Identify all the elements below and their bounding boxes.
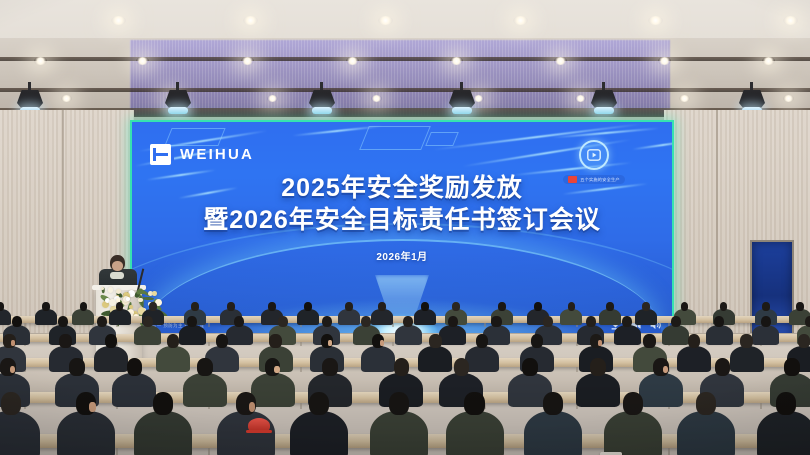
audience-member-head [105, 334, 117, 348]
desk-support [668, 448, 670, 455]
audience-member-face [10, 366, 15, 373]
weihua-logo: WEIHUA [150, 144, 254, 165]
audience-member-head [464, 392, 484, 415]
video-play-icon [579, 140, 609, 170]
audience-member-head [448, 316, 458, 327]
audience-member [446, 392, 504, 455]
ceiling-downlight [762, 57, 775, 65]
audience-member-body [134, 411, 192, 455]
seated-audience [0, 300, 810, 455]
audience-member-head [543, 316, 553, 327]
ceiling-downlight [241, 57, 254, 65]
audience-member-head [322, 316, 332, 327]
title-line-1: 2025年安全奖励发放 [132, 172, 672, 204]
audience-member-head [590, 358, 606, 376]
ceiling-downlight [61, 95, 72, 102]
audience-member-body [524, 411, 582, 455]
audience-member-head [80, 302, 88, 311]
audience-member-head [671, 316, 681, 327]
audience-member-head [429, 334, 441, 348]
audience-member-head [197, 358, 213, 376]
audience-member-body [370, 411, 428, 455]
audience-member-face [89, 402, 96, 411]
audience-member-head [127, 358, 143, 376]
flower-bloom [101, 287, 104, 290]
audience-member-head [1, 392, 21, 415]
audience-member-head [389, 392, 409, 415]
audience-member-head [606, 302, 614, 311]
ceiling-downlight [136, 57, 149, 65]
audience-member-head [0, 302, 4, 311]
audience-member [604, 392, 662, 455]
stage-spotlight [591, 82, 617, 116]
audience-member-head [59, 334, 71, 348]
audience-member-head [116, 302, 124, 311]
audience-member-head [216, 334, 228, 348]
presenter-collar [110, 272, 124, 279]
hard-hat-brim [246, 430, 272, 433]
audience-member-head [740, 334, 752, 348]
flower-bloom [108, 287, 113, 292]
audience-member-head [452, 302, 460, 311]
title-line-2: 暨2026年安全目标责任书签订会议 [132, 204, 672, 236]
ceiling-light-reflection [130, 40, 670, 116]
audience-member-head [796, 302, 804, 311]
ceiling-downlight [450, 57, 463, 65]
ceiling-downlight [513, 16, 528, 25]
ceiling-downlight [378, 16, 393, 25]
audience-member-head [394, 358, 410, 376]
audience-member-body [290, 411, 348, 455]
audience-member-head [696, 392, 716, 415]
desk-support [208, 448, 210, 455]
audience-member [757, 392, 810, 455]
audience-member-head [798, 334, 810, 348]
ceiling-downlight [267, 95, 278, 102]
audience-member-head [761, 316, 771, 327]
audience-member-head [309, 392, 329, 415]
audience-member-body [57, 411, 115, 455]
audience-member-head [42, 302, 50, 311]
audience-member-head [491, 316, 501, 327]
audience-member-head [642, 302, 650, 311]
audience-member-head [378, 302, 386, 311]
audience-member [134, 392, 192, 455]
audience-member-head [643, 334, 655, 348]
desk-support [300, 342, 302, 346]
ceiling-rail-lower [0, 88, 810, 92]
audience-member-head [534, 302, 542, 311]
ceiling-downlight [648, 16, 663, 25]
audience-member-head [776, 392, 796, 415]
audience-member-head [568, 302, 576, 311]
audience-member-head [97, 316, 107, 327]
audience-member-head [762, 302, 770, 311]
conference-hall-photo: WEIHUA 五个实施的安全生产 2025年安全奖励发放 暨2026年 [0, 0, 810, 455]
audience-member [370, 392, 428, 455]
audience-member-head [191, 302, 199, 311]
audience-member-face [598, 340, 602, 346]
audience-member-head [720, 302, 728, 311]
desk-support [208, 323, 210, 327]
audience-member-head [278, 316, 288, 327]
ceiling-downlight [554, 57, 567, 65]
desk-support [300, 367, 302, 372]
stage-spotlight [165, 82, 191, 116]
title-date: 2026年1月 [132, 248, 672, 263]
ceiling-downlight [346, 57, 359, 65]
audience-member-body [757, 411, 810, 455]
weihua-crane-mark-icon [150, 144, 171, 165]
audience-member-head [623, 392, 643, 415]
presenter-face [112, 261, 123, 271]
ceiling-rail-upper [0, 57, 810, 61]
audience-member-head [531, 334, 543, 348]
desk-support [116, 448, 118, 455]
audience-member-head [714, 316, 724, 327]
audience-member-head [322, 358, 338, 376]
ceiling-downlight [34, 57, 47, 65]
screen-titles: 2025年安全奖励发放 暨2026年安全目标责任书签订会议 2026年1月 [132, 172, 672, 263]
audience-member-head [69, 358, 85, 376]
audience-member [57, 392, 115, 455]
audience-member-head [622, 316, 632, 327]
stage-spotlight [449, 82, 475, 116]
audience-member-head [345, 302, 353, 311]
audience-member-body [0, 411, 40, 455]
audience-member-head [153, 392, 173, 415]
audience-member-head [522, 358, 538, 376]
audience-member-head [187, 316, 197, 327]
audience-member-head [12, 316, 22, 327]
audience-member [677, 392, 735, 455]
ceiling-downlight [783, 16, 798, 25]
ceiling-downlight [783, 95, 794, 102]
ceiling-downlight [371, 95, 382, 102]
audience-member-body [677, 411, 735, 455]
audience-member-head [149, 302, 157, 311]
audience-member-body [604, 411, 662, 455]
hex-accent-2 [359, 126, 431, 150]
audience-member-face [663, 366, 668, 373]
audience-member-head [805, 316, 810, 327]
audience-member-head [227, 302, 235, 311]
audience-member-head [143, 316, 153, 327]
audience-member-head [586, 316, 596, 327]
audience-member-head [784, 358, 800, 376]
audience-member [524, 392, 582, 455]
audience-member-head [304, 302, 312, 311]
audience-member-head [361, 316, 371, 327]
audience-member-head [268, 302, 276, 311]
audience-member-head [498, 302, 506, 311]
audience-member-head [543, 392, 563, 415]
audience-member-head [58, 316, 68, 327]
flower-bloom [152, 291, 157, 296]
ceiling-downlight [243, 16, 258, 25]
audience-member [0, 392, 40, 455]
audience-member-face [380, 340, 384, 346]
audience-member-head [476, 334, 488, 348]
audience-member [290, 392, 348, 455]
ceiling-downlight [658, 57, 671, 65]
audience-member-head [715, 358, 731, 376]
audience-member-head [269, 334, 281, 348]
audience-member-head [234, 316, 244, 327]
ceiling-downlight [575, 95, 586, 102]
ceiling-downlight [679, 95, 690, 102]
audience-member-head [454, 358, 470, 376]
audience-member-head [403, 316, 413, 327]
audience-member-head [167, 334, 179, 348]
audience-member-face [274, 366, 279, 373]
audience-member-face [249, 402, 256, 411]
audience-member-head [688, 334, 700, 348]
hex-accent-3 [425, 132, 459, 146]
audience-member-body [446, 411, 504, 455]
audience-member-face [11, 340, 15, 346]
audience-member-head [421, 302, 429, 311]
stage-spotlight [309, 82, 335, 116]
weihua-logo-text: WEIHUA [180, 146, 254, 163]
ceiling-downlight [111, 16, 126, 25]
audience-member-head [681, 302, 689, 311]
